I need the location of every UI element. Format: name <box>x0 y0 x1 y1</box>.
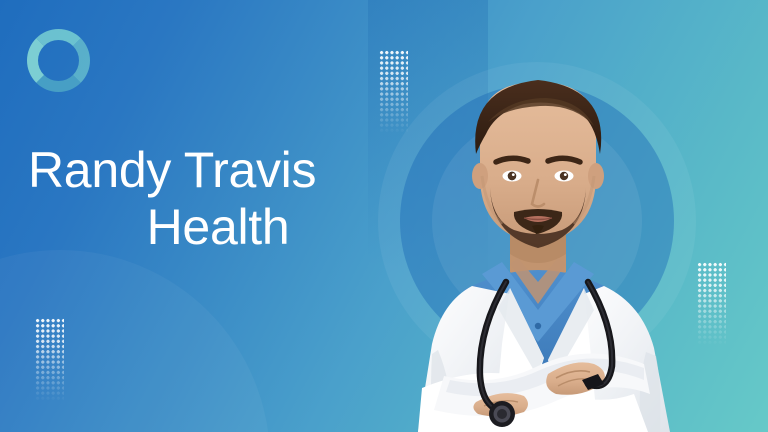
page-title-line-1: Randy Travis <box>28 142 418 199</box>
page-title: Randy Travis Health <box>28 142 418 256</box>
dot-grid-bottom-left-icon <box>35 318 64 402</box>
page-title-line-2: Health <box>28 199 408 256</box>
ring-logo-icon <box>27 29 90 92</box>
health-banner: Randy Travis Health <box>0 0 768 432</box>
doctor-photo <box>398 58 738 432</box>
